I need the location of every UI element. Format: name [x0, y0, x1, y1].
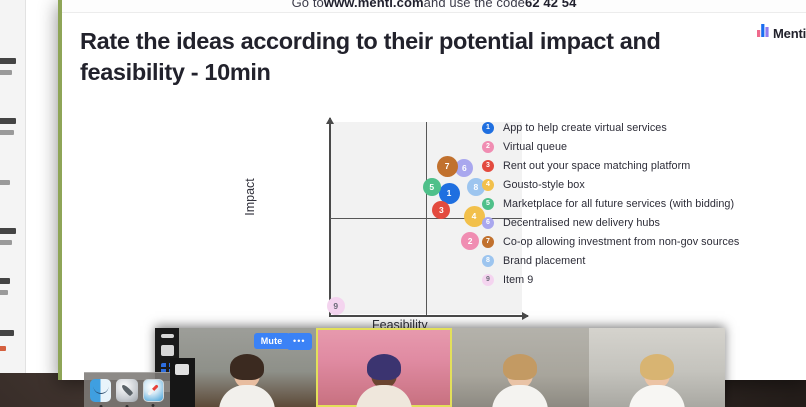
legend-dot-5: 5	[482, 198, 494, 210]
legend-item-9[interactable]: 9Item 9	[482, 270, 782, 289]
bg-text-line	[0, 330, 14, 336]
participant-avatar	[219, 357, 275, 407]
background-app-sidebar	[0, 0, 26, 373]
y-axis-label: Impact	[243, 178, 257, 216]
video-tile-participant-2[interactable]	[316, 328, 453, 407]
bg-text-line	[0, 180, 10, 185]
x-axis	[329, 315, 528, 317]
minimize-icon[interactable]	[161, 334, 174, 338]
mac-dock[interactable]	[84, 372, 170, 407]
legend-item-4[interactable]: 4Gousto-style box	[482, 175, 782, 194]
legend-item-5[interactable]: 5Marketplace for all future services (wi…	[482, 194, 782, 213]
legend-item-1[interactable]: 1App to help create virtual services	[482, 118, 782, 137]
legend-label-1: App to help create virtual services	[503, 122, 667, 134]
legend-label-3: Rent out your space matching platform	[503, 160, 690, 172]
legend-item-6[interactable]: 6Decentralised new delivery hubs	[482, 213, 782, 232]
quadrant-chart: Impact Feasibility 123456789	[260, 118, 470, 330]
finder-icon[interactable]	[90, 379, 111, 402]
chart-point-5[interactable]: 5	[423, 178, 441, 196]
video-toolbar-overlay[interactable]	[170, 358, 195, 407]
menti-brand: Menti	[757, 24, 806, 42]
video-tile-participant-3[interactable]	[452, 328, 589, 407]
legend-label-6: Decentralised new delivery hubs	[503, 217, 660, 229]
chart-point-9[interactable]: 9	[327, 297, 345, 315]
legend-dot-7: 7	[482, 236, 494, 248]
menti-join-banner: Go to www.menti.com and use the code 62 …	[62, 0, 806, 12]
video-call-strip[interactable]: Mute •••	[155, 328, 725, 407]
bg-text-line	[0, 118, 16, 124]
participant-avatar	[629, 357, 685, 407]
presentation-window[interactable]: Go to www.menti.com and use the code 62 …	[58, 0, 806, 380]
legend-label-4: Gousto-style box	[503, 179, 585, 191]
speaker-view-icon[interactable]	[161, 345, 174, 356]
more-options-button[interactable]: •••	[287, 333, 311, 350]
banner-code: 62 42 54	[525, 0, 576, 10]
legend-label-2: Virtual queue	[503, 141, 567, 153]
legend-dot-8: 8	[482, 255, 494, 267]
bg-text-line	[0, 228, 16, 234]
background-app-window[interactable]	[0, 0, 64, 373]
legend-dot-4: 4	[482, 179, 494, 191]
legend-dot-3: 3	[482, 160, 494, 172]
video-tile-participant-4[interactable]	[589, 328, 726, 407]
legend-dot-2: 2	[482, 141, 494, 153]
participant-avatar	[492, 357, 548, 407]
banner-prefix: Go to	[292, 0, 324, 10]
bg-text-line	[0, 58, 16, 64]
legend-dot-1: 1	[482, 122, 494, 134]
bg-text-line	[0, 240, 12, 245]
legend-label-9: Item 9	[503, 274, 533, 286]
window-control-icon[interactable]	[175, 364, 189, 375]
launchpad-icon[interactable]	[116, 379, 137, 402]
page-title: Rate the ideas according to their potent…	[80, 26, 680, 89]
banner-middle: and use the code	[424, 0, 525, 10]
banner-divider	[62, 12, 806, 13]
video-tile-participant-1[interactable]: Mute •••	[179, 328, 316, 407]
safari-icon[interactable]	[143, 379, 164, 402]
legend-dot-9: 9	[482, 274, 494, 286]
legend-dot-6: 6	[482, 217, 494, 229]
legend-label-5: Marketplace for all future services (wit…	[503, 198, 734, 210]
legend-label-7: Co-op allowing investment from non-gov s…	[503, 236, 739, 248]
bg-text-line	[0, 70, 12, 75]
bg-text-line	[0, 346, 6, 351]
legend-item-8[interactable]: 8Brand placement	[482, 251, 782, 270]
participant-avatar	[356, 357, 412, 407]
bg-text-line	[0, 130, 14, 135]
mute-button[interactable]: Mute	[254, 333, 290, 349]
chart-legend: 1App to help create virtual services2Vir…	[482, 118, 782, 289]
brand-name: Menti	[773, 26, 806, 41]
banner-url: www.menti.com	[324, 0, 424, 10]
legend-item-2[interactable]: 2Virtual queue	[482, 137, 782, 156]
legend-label-8: Brand placement	[503, 255, 585, 267]
bg-text-line	[0, 290, 8, 295]
bg-text-line	[0, 278, 10, 284]
quadrant-line-vertical	[426, 122, 427, 315]
legend-item-3[interactable]: 3Rent out your space matching platform	[482, 156, 782, 175]
mentimeter-logo-icon	[757, 24, 769, 42]
legend-item-7[interactable]: 7Co-op allowing investment from non-gov …	[482, 232, 782, 251]
chart-point-7[interactable]: 7	[437, 156, 458, 177]
